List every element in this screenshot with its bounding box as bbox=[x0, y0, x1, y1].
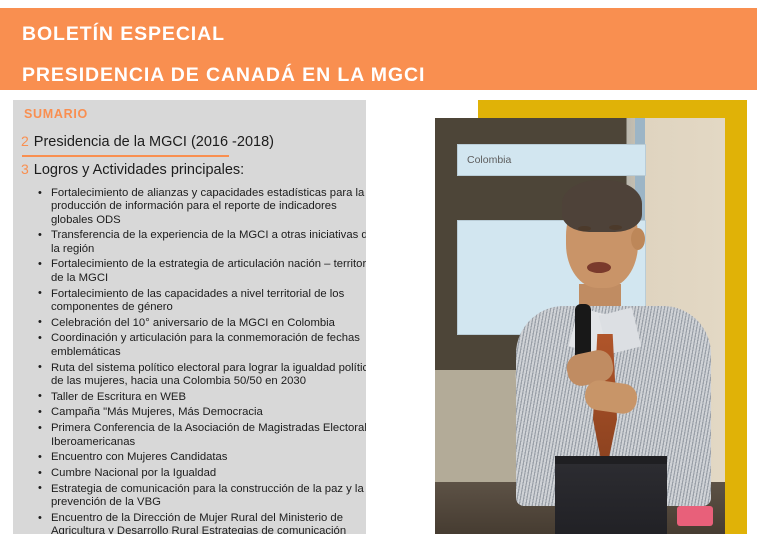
page-title-sub: PRESIDENCIA DE CANADÁ EN LA MGCI bbox=[22, 66, 425, 86]
speaker-figure bbox=[521, 156, 701, 534]
list-item: Encuentro con Mujeres Candidatas bbox=[51, 451, 366, 464]
list-item: Campaña "Más Mujeres, Más Democracia bbox=[51, 406, 366, 419]
toc-page-number: 2 bbox=[21, 133, 29, 149]
speaker-photo: Colombia bbox=[435, 118, 725, 534]
list-item: Transferencia de la experiencia de la MG… bbox=[51, 229, 366, 256]
speaker-ear bbox=[631, 228, 645, 250]
toc-entry-logros[interactable]: 3 Logros y Actividades principales: bbox=[21, 161, 244, 178]
speaker-eye-left bbox=[578, 226, 591, 231]
speaker-mouth bbox=[587, 262, 611, 273]
speaker-trousers bbox=[555, 464, 667, 534]
list-item: Celebración del 10° aniversario de la MG… bbox=[51, 317, 366, 330]
toc-entry-presidencia[interactable]: 2 Presidencia de la MGCI (2016 -2018) bbox=[21, 133, 274, 150]
summary-panel: SUMARIO 2 Presidencia de la MGCI (2016 -… bbox=[13, 100, 366, 534]
speaker-eye-right bbox=[609, 225, 622, 230]
speaker-hair bbox=[562, 180, 642, 232]
list-item: Cumbre Nacional por la Igualdad bbox=[51, 467, 366, 480]
list-item: Fortalecimiento de la estrategia de arti… bbox=[51, 258, 366, 285]
list-item: Taller de Escritura en WEB bbox=[51, 391, 366, 404]
summary-heading: SUMARIO bbox=[24, 108, 88, 121]
achievements-bullet-list: Fortalecimiento de alianzas y capacidade… bbox=[33, 187, 366, 534]
list-item: Primera Conferencia de la Asociación de … bbox=[51, 422, 366, 449]
header-banner: BOLETÍN ESPECIAL PRESIDENCIA DE CANADÁ E… bbox=[0, 8, 757, 90]
toc-entry-label: Logros y Actividades principales: bbox=[34, 162, 244, 178]
list-item: Fortalecimiento de las capacidades a niv… bbox=[51, 288, 366, 315]
list-item: Encuentro de la Dirección de Mujer Rural… bbox=[51, 512, 366, 534]
list-item: Ruta del sistema político electoral para… bbox=[51, 362, 366, 389]
photo-pink-object bbox=[677, 506, 713, 526]
page-title-main: BOLETÍN ESPECIAL bbox=[22, 25, 225, 45]
list-item: Coordinación y articulación para la conm… bbox=[51, 332, 366, 359]
projected-slide-title-text: Colombia bbox=[467, 154, 511, 166]
toc-page-number: 3 bbox=[21, 161, 29, 177]
list-item: Fortalecimiento de alianzas y capacidade… bbox=[51, 187, 366, 227]
toc-entry-label: Presidencia de la MGCI (2016 -2018) bbox=[34, 134, 274, 150]
toc-underline-rule bbox=[22, 155, 229, 157]
list-item: Estrategia de comunicación para la const… bbox=[51, 483, 366, 510]
